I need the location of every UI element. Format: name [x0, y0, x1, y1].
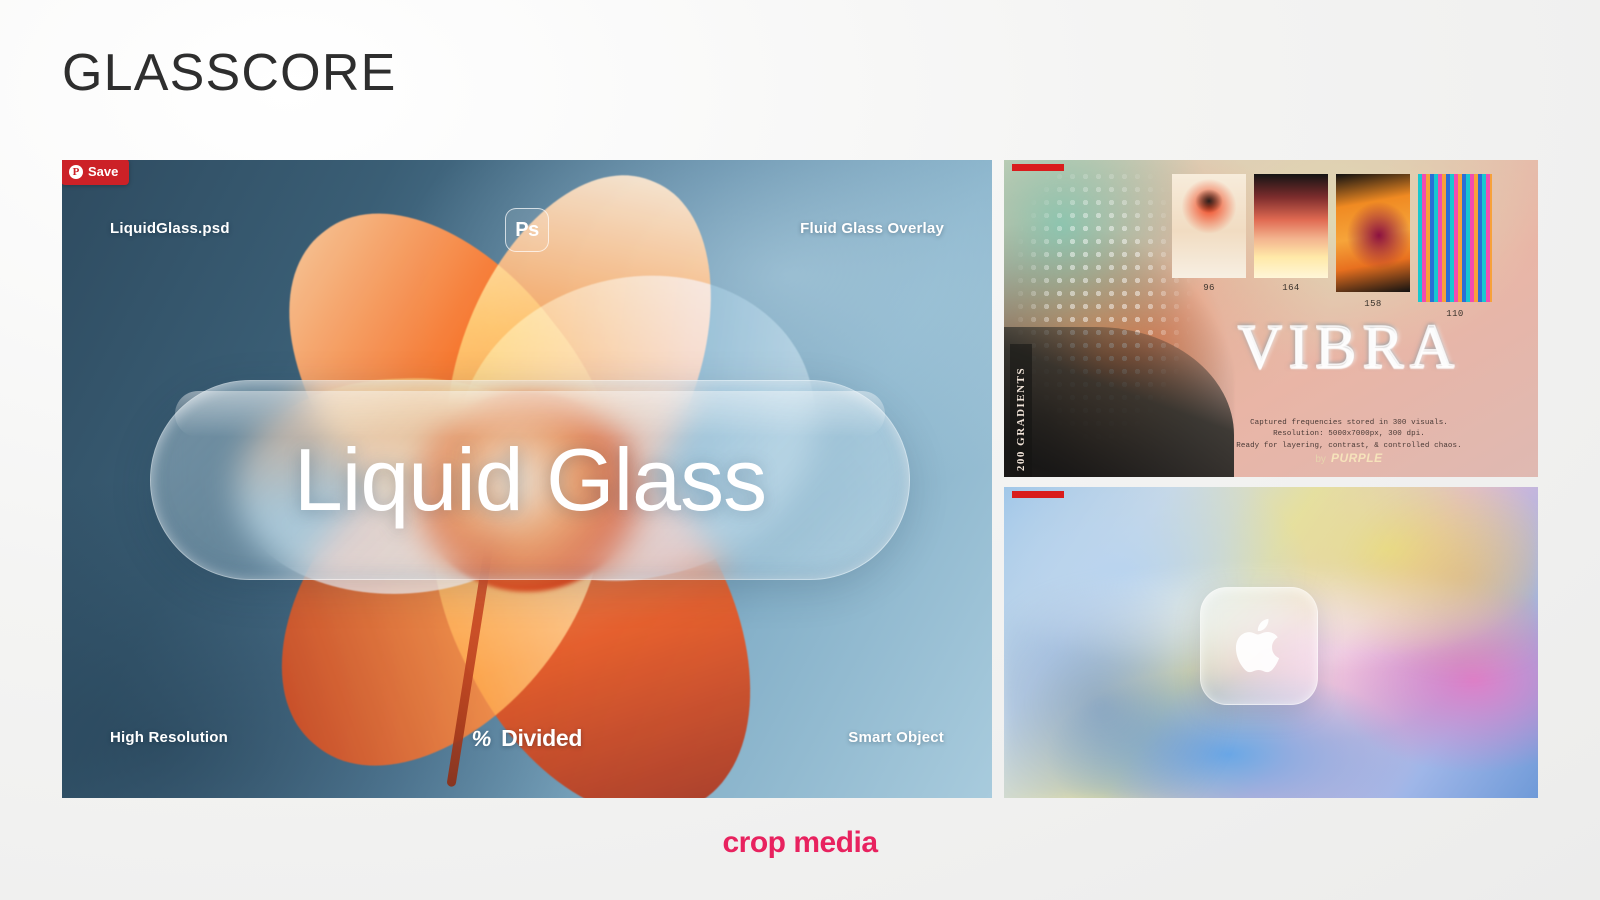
slide-canvas: GLASSCORE P Save LiquidGlass.psd: [0, 0, 1600, 900]
card-vibra-gradients[interactable]: 200 GRADIENTS 96 164 158 110: [1004, 160, 1538, 477]
card-liquid-glass[interactable]: P Save LiquidGlass.psd Fluid Glass Overl…: [62, 160, 992, 798]
file-name-label: LiquidGlass.psd: [110, 220, 230, 237]
gallery-grid: P Save LiquidGlass.psd Fluid Glass Overl…: [62, 160, 1538, 798]
glass-pill-panel: Liquid Glass: [150, 380, 910, 580]
apple-logo-icon: [1228, 615, 1290, 677]
divided-mark-icon: %: [470, 726, 493, 752]
caption-line: Resolution: 5000x7000px, 300 dpi.: [1154, 429, 1538, 440]
caption-line: Captured frequencies stored in 300 visua…: [1154, 418, 1538, 429]
vibra-caption: Captured frequencies stored in 300 visua…: [1154, 418, 1538, 452]
swatch-strip: 96 164 158 110: [1172, 174, 1492, 319]
save-button-label: Save: [88, 164, 118, 179]
gradients-count-label: 200 GRADIENTS: [1015, 367, 1027, 471]
swatch-number: 164: [1282, 283, 1299, 293]
swatch-thumbnail: [1418, 174, 1492, 302]
save-button[interactable]: P Save: [62, 160, 129, 185]
swatch-item[interactable]: 110: [1418, 174, 1492, 319]
resolution-label: High Resolution: [110, 729, 228, 746]
swatch-thumbnail: [1254, 174, 1328, 278]
swatch-number: 96: [1203, 283, 1215, 293]
swatch-item[interactable]: 96: [1172, 174, 1246, 319]
red-marker-bar: [1012, 491, 1064, 498]
swatch-thumbnail: [1172, 174, 1246, 278]
red-marker-bar: [1012, 164, 1064, 171]
photoshop-badge-icon: Ps: [505, 208, 549, 252]
credit-name: PURPLE: [1331, 451, 1383, 465]
vibra-credit: byPURPLE: [1154, 451, 1538, 465]
gradients-count-rail: 200 GRADIENTS: [1010, 344, 1032, 477]
smart-object-label: Smart Object: [848, 729, 944, 746]
card-holographic-apple[interactable]: [1004, 487, 1538, 798]
pinterest-icon: P: [69, 165, 83, 179]
headline-text: Liquid Glass: [294, 429, 766, 531]
overlay-type-label: Fluid Glass Overlay: [800, 220, 944, 237]
swatch-item[interactable]: 158: [1336, 174, 1410, 319]
photoshop-badge-label: Ps: [515, 219, 538, 242]
glass-app-tile: [1200, 587, 1318, 705]
crop-media-logo: crop media: [722, 826, 877, 860]
credit-prefix: by: [1315, 454, 1326, 465]
divided-brand-name: Divided: [501, 725, 582, 752]
swatch-item[interactable]: 164: [1254, 174, 1328, 319]
vibra-wordmark: VIBRA: [1164, 312, 1534, 383]
page-title: GLASSCORE: [62, 47, 396, 99]
swatch-thumbnail: [1336, 174, 1410, 292]
swatch-number: 158: [1364, 299, 1381, 309]
divided-brand-lockup: % Divided: [472, 725, 582, 752]
